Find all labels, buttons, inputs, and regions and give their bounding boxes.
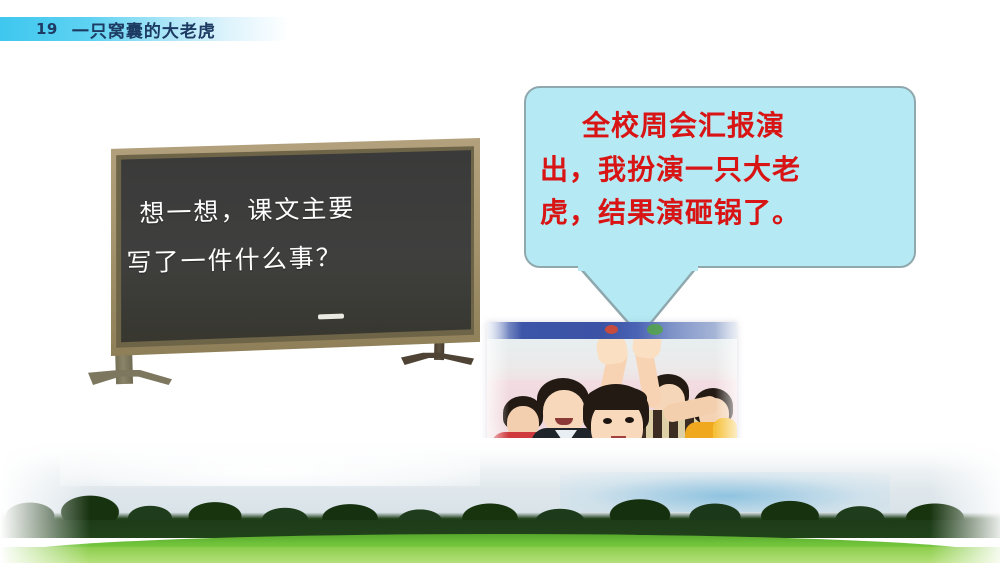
child-3-eye-left [603,418,612,424]
slide-canvas: 19 一只窝囊的大老虎 想一想，课文主要 写了一件什么事？ 全校周会汇报演 出，… [0,0,1000,563]
chalk-icon [318,314,344,320]
speech-bubble-line-1: 全校周会汇报演 [540,104,904,148]
blackboard: 想一想，课文主要 写了一件什么事？ [88,138,508,408]
speech-bubble-text: 全校周会汇报演 出，我扮演一只大老 虎，结果演砸锅了。 [540,104,904,235]
landscape-fade-left [0,438,90,563]
landscape-band [0,438,1000,563]
blackboard-question: 想一想，课文主要 写了一件什么事？ [139,182,451,288]
blackboard-question-line-2: 写了一件什么事？ [126,231,451,288]
landscape-fade-right [930,438,1000,563]
speech-bubble-line-3: 虎，结果演砸锅了。 [540,191,904,235]
lesson-number: 19 [36,20,58,38]
speech-bubble: 全校周会汇报演 出，我扮演一只大老 虎，结果演砸锅了。 [524,86,916,268]
lesson-title: 一只窝囊的大老虎 [72,17,216,42]
landscape-grass-foreground [0,547,1000,563]
blackboard-question-line-1: 想一想，课文主要 [139,182,450,239]
landscape-fade-top [0,438,1000,472]
photo-banner-dot-green [647,324,663,335]
page-title: 19 一只窝囊的大老虎 [36,16,216,42]
photo-banner-dot-red [605,325,618,334]
child-3-eye-right [625,417,634,423]
speech-bubble-line-2: 出，我扮演一只大老 [540,148,904,192]
child-3-bangs [587,386,647,410]
